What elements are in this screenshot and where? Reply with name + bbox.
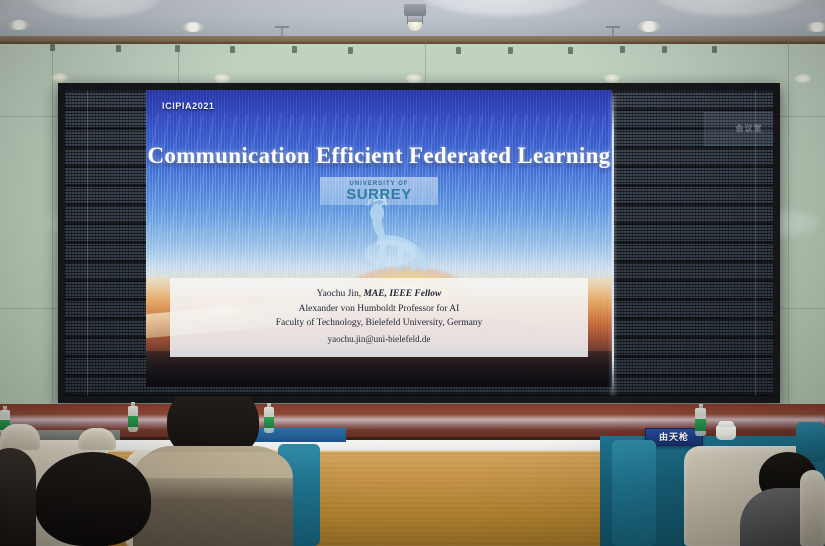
surrey-university-logo: UNIVERSITY OF SURREY: [320, 177, 438, 205]
audience-chair[interactable]: [0, 424, 40, 450]
audience-member: [0, 448, 36, 546]
ceiling-pocket: [655, 0, 805, 16]
lighting-track-rail: [0, 41, 825, 44]
track-light: [712, 46, 717, 53]
ceiling-projector-lamp: [408, 22, 422, 31]
wall-spotlight: [214, 74, 230, 83]
track-light: [50, 44, 55, 51]
tea-cup[interactable]: [716, 425, 736, 440]
water-bottle[interactable]: [695, 404, 706, 436]
ceiling-pocket: [420, 0, 590, 16]
track-light: [348, 47, 353, 54]
track-light: [620, 46, 625, 53]
speaker-role: Alexander von Humboldt Professor for AI: [176, 302, 582, 317]
audience-chair[interactable]: [800, 470, 825, 546]
track-light: [568, 47, 573, 54]
speaker-credentials: MAE, IEEE Fellow: [363, 289, 441, 299]
audience-chair-teal[interactable]: [612, 440, 656, 546]
audience-chair[interactable]: [78, 428, 116, 450]
nameplate-text: 由天枪: [659, 433, 689, 442]
track-light: [508, 47, 513, 54]
led-panel-seam: [87, 90, 88, 396]
conference-hall-scene: ICIPIA2021 Communication Efficient Feder…: [0, 0, 825, 546]
ceiling-hanger-cap: [275, 26, 289, 28]
person-torso: [0, 448, 36, 546]
speaker-name: Yaochu Jin,: [317, 289, 361, 299]
ceiling-downlight: [8, 20, 30, 30]
track-light: [456, 47, 461, 54]
wall-spotlight: [52, 73, 68, 82]
ceiling-downlight: [637, 21, 661, 32]
slide-title: Communication Efficient Federated Learni…: [146, 144, 612, 167]
side-panel-label: 会议室: [736, 125, 763, 133]
ceiling-hanger-cap: [606, 26, 620, 28]
screen-side-panel[interactable]: 会议室: [704, 112, 773, 146]
wall-spotlight: [406, 74, 422, 83]
speaker-info-box: Yaochu Jin, MAE, IEEE Fellow Alexander v…: [170, 278, 588, 357]
ceiling-downlight: [806, 22, 825, 32]
led-wall-surface: ICIPIA2021 Communication Efficient Feder…: [65, 90, 773, 396]
track-light: [175, 45, 180, 52]
speaker-name-line: Yaochu Jin, MAE, IEEE Fellow: [176, 287, 582, 302]
track-light: [292, 46, 297, 53]
wall-spotlight: [604, 74, 620, 83]
bottle-body: [695, 408, 706, 436]
wall-spotlight: [795, 74, 811, 83]
ceiling-pocket: [30, 0, 160, 18]
presentation-slide[interactable]: ICIPIA2021 Communication Efficient Feder…: [146, 90, 612, 387]
track-light: [116, 45, 121, 52]
audience-member: [28, 452, 158, 546]
conference-tag: ICIPIA2021: [162, 102, 215, 111]
wall-panel-seam: [788, 42, 789, 436]
led-bright-seam: [612, 96, 614, 396]
logo-main-text: SURREY: [346, 187, 412, 202]
speaker-email: yaochu.jin@uni-bielefeld.de: [176, 333, 582, 347]
tea-cup-lid: [718, 421, 734, 427]
track-light: [230, 46, 235, 53]
track-light: [662, 46, 667, 53]
person-head: [35, 452, 151, 546]
led-video-wall[interactable]: ICIPIA2021 Communication Efficient Feder…: [58, 83, 780, 403]
wall-panel-seam: [52, 42, 53, 436]
ceiling: [0, 0, 825, 36]
speaker-affiliation: Faculty of Technology, Bielefeld Univers…: [176, 316, 582, 331]
ceiling-downlight: [182, 22, 204, 32]
bottle-label: [695, 419, 706, 431]
